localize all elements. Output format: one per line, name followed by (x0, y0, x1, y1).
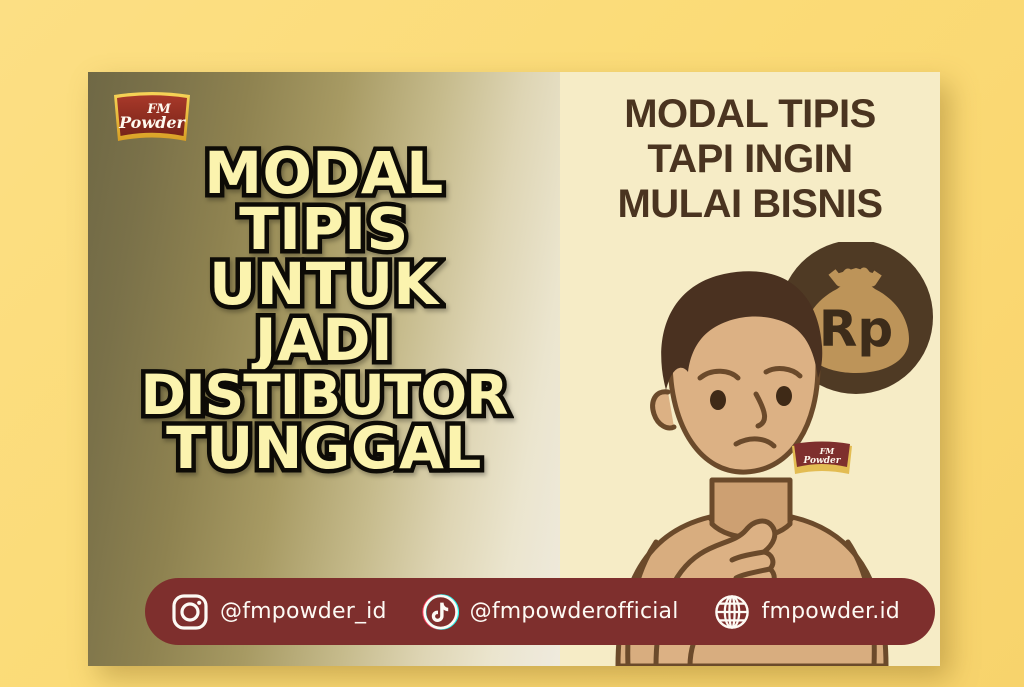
instagram-handle[interactable]: @fmpowder_id (220, 599, 387, 624)
headline-line-4: JADI (88, 313, 560, 369)
tiktok-handle[interactable]: @fmpowderofficial (470, 599, 679, 624)
subheadline-line-2: TAPI INGIN (560, 139, 940, 179)
man-head (653, 271, 823, 472)
social-tiktok[interactable]: @fmpowderofficial (421, 593, 679, 631)
svg-text:FM: FM (819, 446, 836, 456)
right-panel: MODAL TIPIS TAPI INGIN MULAI BISNIS .str… (560, 72, 940, 666)
poster-canvas: FM Powder MODAL TIPIS UNTUK JADI DISTIBU… (0, 0, 1024, 687)
logo-line2: Powder (118, 113, 186, 132)
website-handle[interactable]: fmpowder.id (762, 599, 900, 624)
instagram-icon[interactable] (171, 593, 209, 631)
headline: MODAL TIPIS UNTUK JADI DISTIBUTOR TUNGGA… (88, 146, 560, 477)
fm-powder-shirt-badge: FM Powder (792, 442, 852, 475)
promo-poster: FM Powder MODAL TIPIS UNTUK JADI DISTIBU… (88, 72, 940, 666)
headline-line-6: TUNGGAL (88, 421, 560, 477)
headline-line-1: MODAL (88, 146, 560, 202)
fm-powder-logo: FM Powder (108, 89, 196, 147)
subheadline: MODAL TIPIS TAPI INGIN MULAI BISNIS (560, 94, 940, 229)
subheadline-line-3: MULAI BISNIS (560, 184, 940, 224)
left-panel: FM Powder MODAL TIPIS UNTUK JADI DISTIBU… (88, 72, 560, 666)
headline-line-2: TIPIS (88, 202, 560, 258)
globe-icon[interactable] (713, 593, 751, 631)
tiktok-icon[interactable] (421, 593, 459, 631)
social-website[interactable]: fmpowder.id (713, 593, 900, 631)
subheadline-line-1: MODAL TIPIS (560, 94, 940, 134)
social-footer-bar: @fmpowder_id @fmpowderofficial (145, 578, 935, 645)
headline-line-3: UNTUK (88, 257, 560, 313)
social-instagram[interactable]: @fmpowder_id (171, 593, 387, 631)
currency-label: Rp (819, 300, 893, 358)
svg-text:Powder: Powder (802, 456, 841, 466)
